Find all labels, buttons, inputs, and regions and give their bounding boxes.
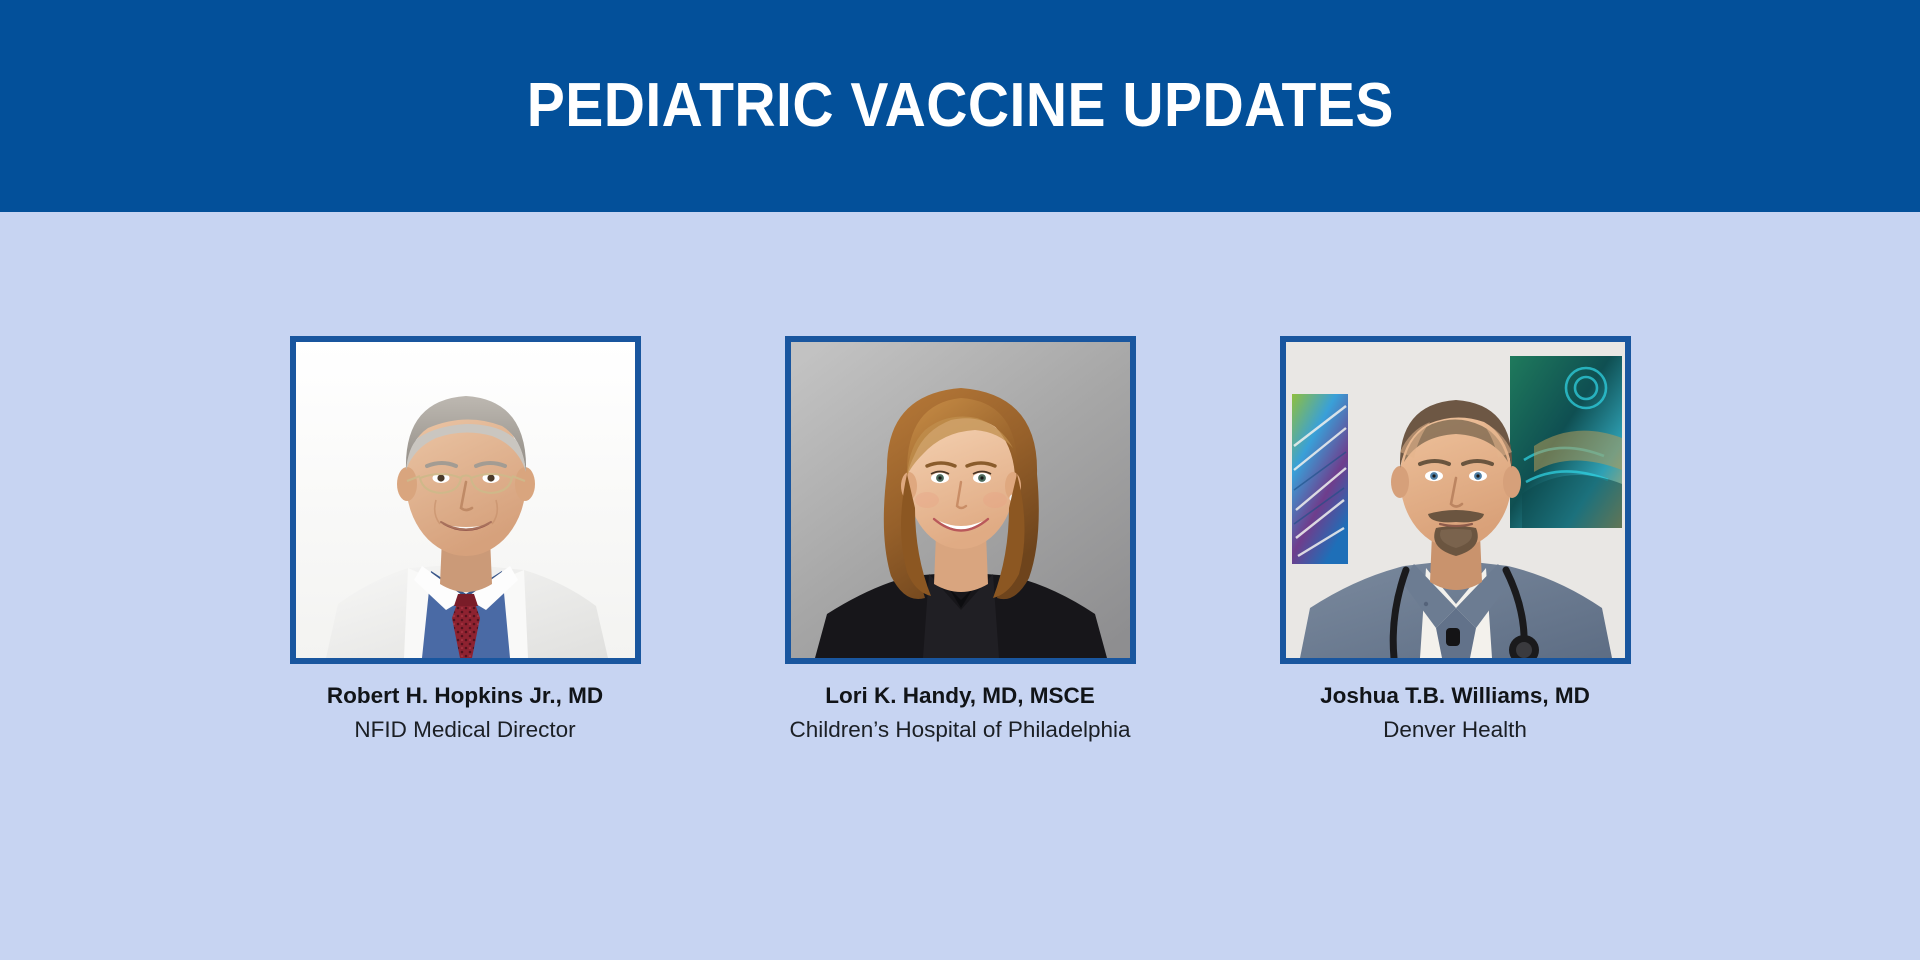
speaker-caption: Joshua T.B. Williams, MD Denver Health xyxy=(1225,682,1685,744)
speaker-caption: Lori K. Handy, MD, MSCE Children’s Hospi… xyxy=(730,682,1190,744)
speaker-photo xyxy=(791,342,1130,658)
speaker-photo xyxy=(1286,342,1625,658)
portrait-hopkins-icon xyxy=(296,342,635,658)
speaker-photo-frame xyxy=(785,336,1136,664)
speaker-name: Robert H. Hopkins Jr., MD xyxy=(235,682,695,711)
speaker-name: Joshua T.B. Williams, MD xyxy=(1225,682,1685,711)
speaker-photo xyxy=(296,342,635,658)
speaker-card[interactable]: Lori K. Handy, MD, MSCE Children’s Hospi… xyxy=(785,336,1136,744)
portrait-handy-icon xyxy=(791,342,1130,658)
speaker-photo-frame xyxy=(1280,336,1631,664)
speaker-name: Lori K. Handy, MD, MSCE xyxy=(730,682,1190,711)
speaker-caption: Robert H. Hopkins Jr., MD NFID Medical D… xyxy=(235,682,695,744)
speaker-list: Robert H. Hopkins Jr., MD NFID Medical D… xyxy=(0,336,1920,744)
header-banner: PEDIATRIC VACCINE UPDATES xyxy=(0,0,1920,212)
page-title: PEDIATRIC VACCINE UPDATES xyxy=(526,75,1393,137)
speaker-affiliation: Children’s Hospital of Philadelphia xyxy=(730,715,1190,745)
speaker-affiliation: Denver Health xyxy=(1225,715,1685,745)
speaker-card[interactable]: Robert H. Hopkins Jr., MD NFID Medical D… xyxy=(290,336,641,744)
speaker-card[interactable]: Joshua T.B. Williams, MD Denver Health xyxy=(1280,336,1631,744)
portrait-williams-icon xyxy=(1286,342,1625,658)
slide-root: PEDIATRIC VACCINE UPDATES xyxy=(0,0,1920,960)
speaker-affiliation: NFID Medical Director xyxy=(235,715,695,745)
speaker-photo-frame xyxy=(290,336,641,664)
